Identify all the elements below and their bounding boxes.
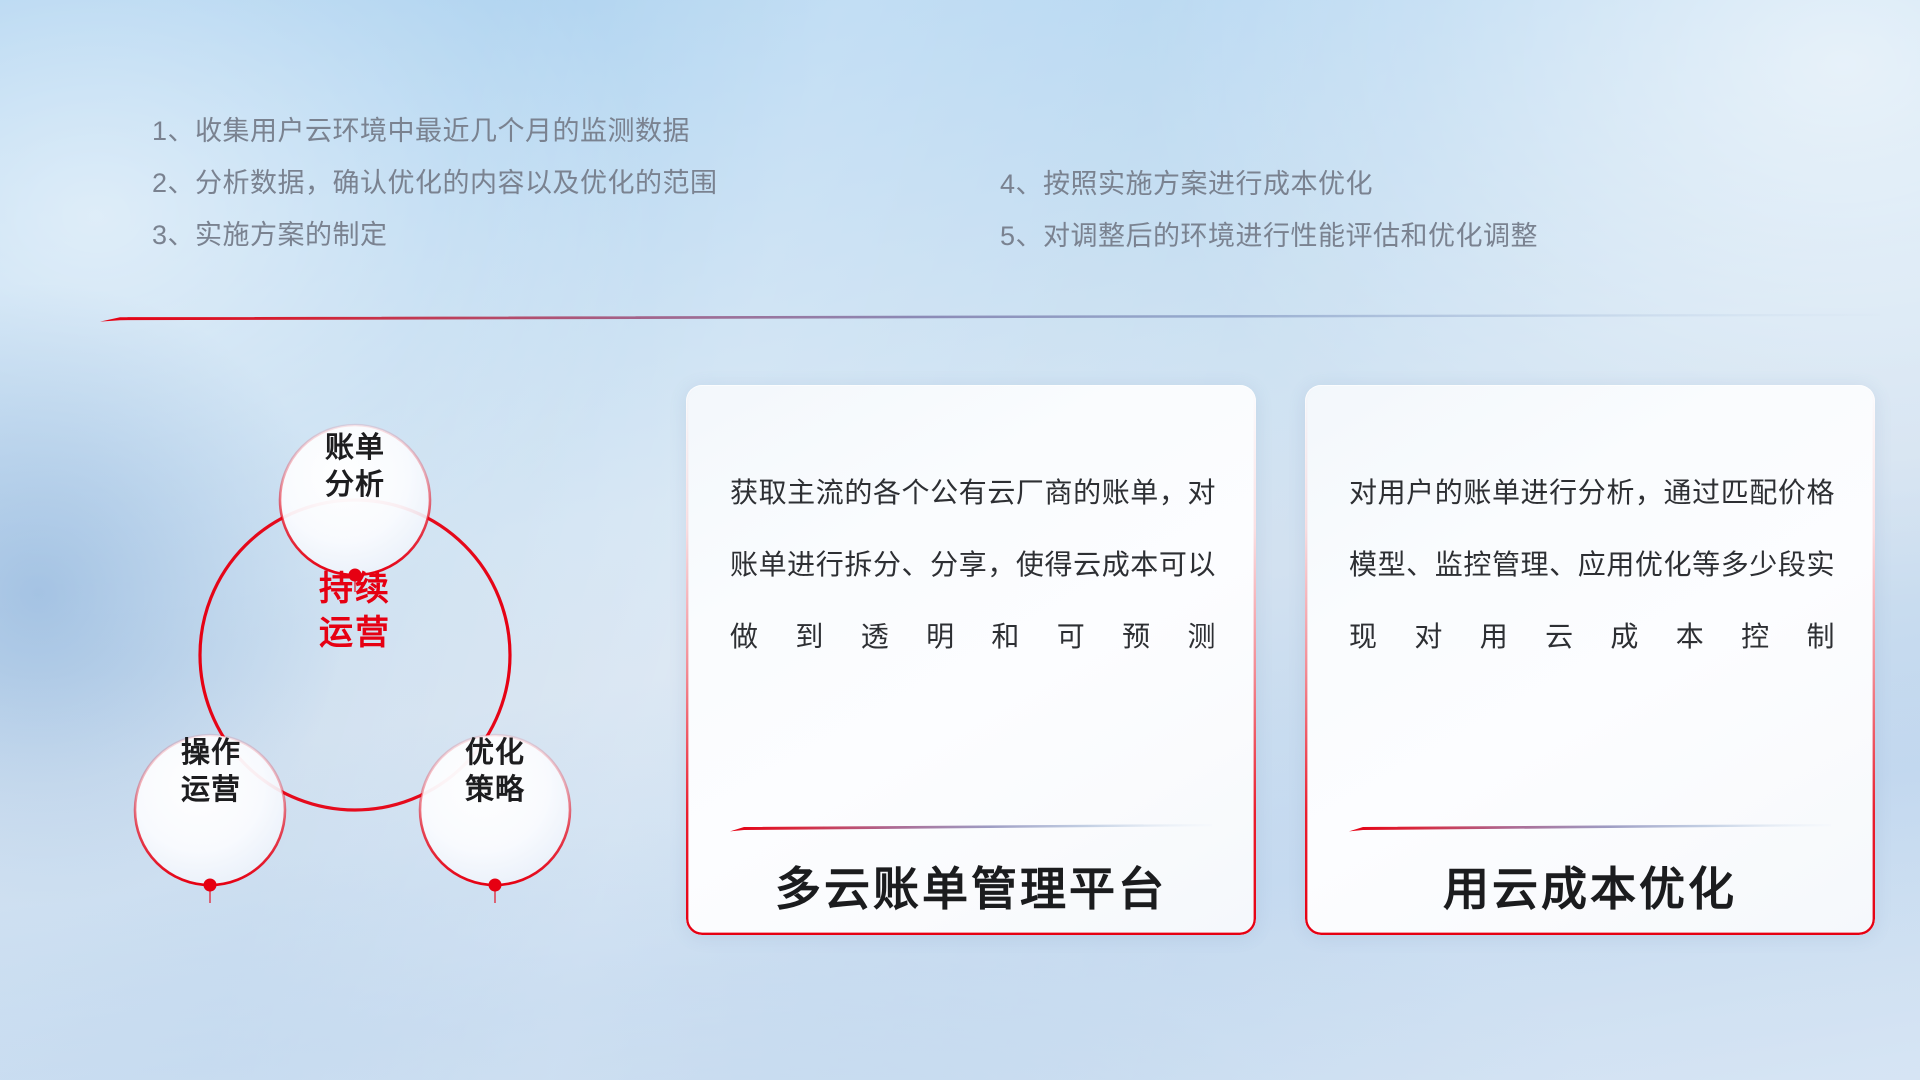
cycle-node-right-line2: 策略 xyxy=(407,772,583,809)
cycle-node-left-line2: 运营 xyxy=(123,772,299,809)
cycle-center-label: 持续 运营 xyxy=(270,567,440,655)
card-description: 对用户的账单进行分析，通过匹配价格模型、监控管理、应用优化等多少段实现对用云成本… xyxy=(1349,457,1835,673)
cycle-center-line2: 运营 xyxy=(270,611,440,655)
slide-canvas: 1、收集用户云环境中最近几个月的监测数据 2、分析数据，确认优化的内容以及优化的… xyxy=(0,0,1920,1080)
card-accent-rule xyxy=(730,823,1212,832)
feature-card-multicloud-billing[interactable]: 获取主流的各个公有云厂商的账单，对账单进行拆分、分享，使得云成本可以做到透明和可… xyxy=(686,385,1256,935)
section-divider xyxy=(100,313,1880,322)
step-item-4: 4、按照实施方案进行成本优化 xyxy=(1000,158,1538,210)
card-title: 多云账单管理平台 xyxy=(686,853,1256,919)
cycle-diagram: 账单 分析 操作 运营 优化 策略 持续 运营 xyxy=(95,355,655,955)
cycle-node-right-line1: 优化 xyxy=(407,735,583,772)
cycle-node-top-line1: 账单 xyxy=(267,430,443,467)
step-item-1: 1、收集用户云环境中最近几个月的监测数据 xyxy=(152,105,718,157)
cycle-node-top-line2: 分析 xyxy=(267,467,443,504)
pin-left xyxy=(204,879,217,904)
cycle-node-left-line1: 操作 xyxy=(123,735,299,772)
card-title: 用云成本优化 xyxy=(1305,853,1875,919)
cycle-node-label-right: 优化 策略 xyxy=(407,735,583,809)
step-item-5: 5、对调整后的环境进行性能评估和优化调整 xyxy=(1000,210,1538,262)
steps-list-right: 4、按照实施方案进行成本优化 5、对调整后的环境进行性能评估和优化调整 xyxy=(1000,158,1538,262)
card-accent-rule xyxy=(1349,823,1831,832)
steps-list-left: 1、收集用户云环境中最近几个月的监测数据 2、分析数据，确认优化的内容以及优化的… xyxy=(152,105,718,261)
cycle-node-label-left: 操作 运营 xyxy=(123,735,299,809)
card-description: 获取主流的各个公有云厂商的账单，对账单进行拆分、分享，使得云成本可以做到透明和可… xyxy=(730,457,1216,673)
pin-right xyxy=(489,879,502,904)
step-item-3: 3、实施方案的制定 xyxy=(152,209,718,261)
feature-card-cloud-cost-optimization[interactable]: 对用户的账单进行分析，通过匹配价格模型、监控管理、应用优化等多少段实现对用云成本… xyxy=(1305,385,1875,935)
step-item-2: 2、分析数据，确认优化的内容以及优化的范围 xyxy=(152,157,718,209)
cycle-node-label-top: 账单 分析 xyxy=(267,430,443,504)
cycle-center-line1: 持续 xyxy=(270,567,440,611)
